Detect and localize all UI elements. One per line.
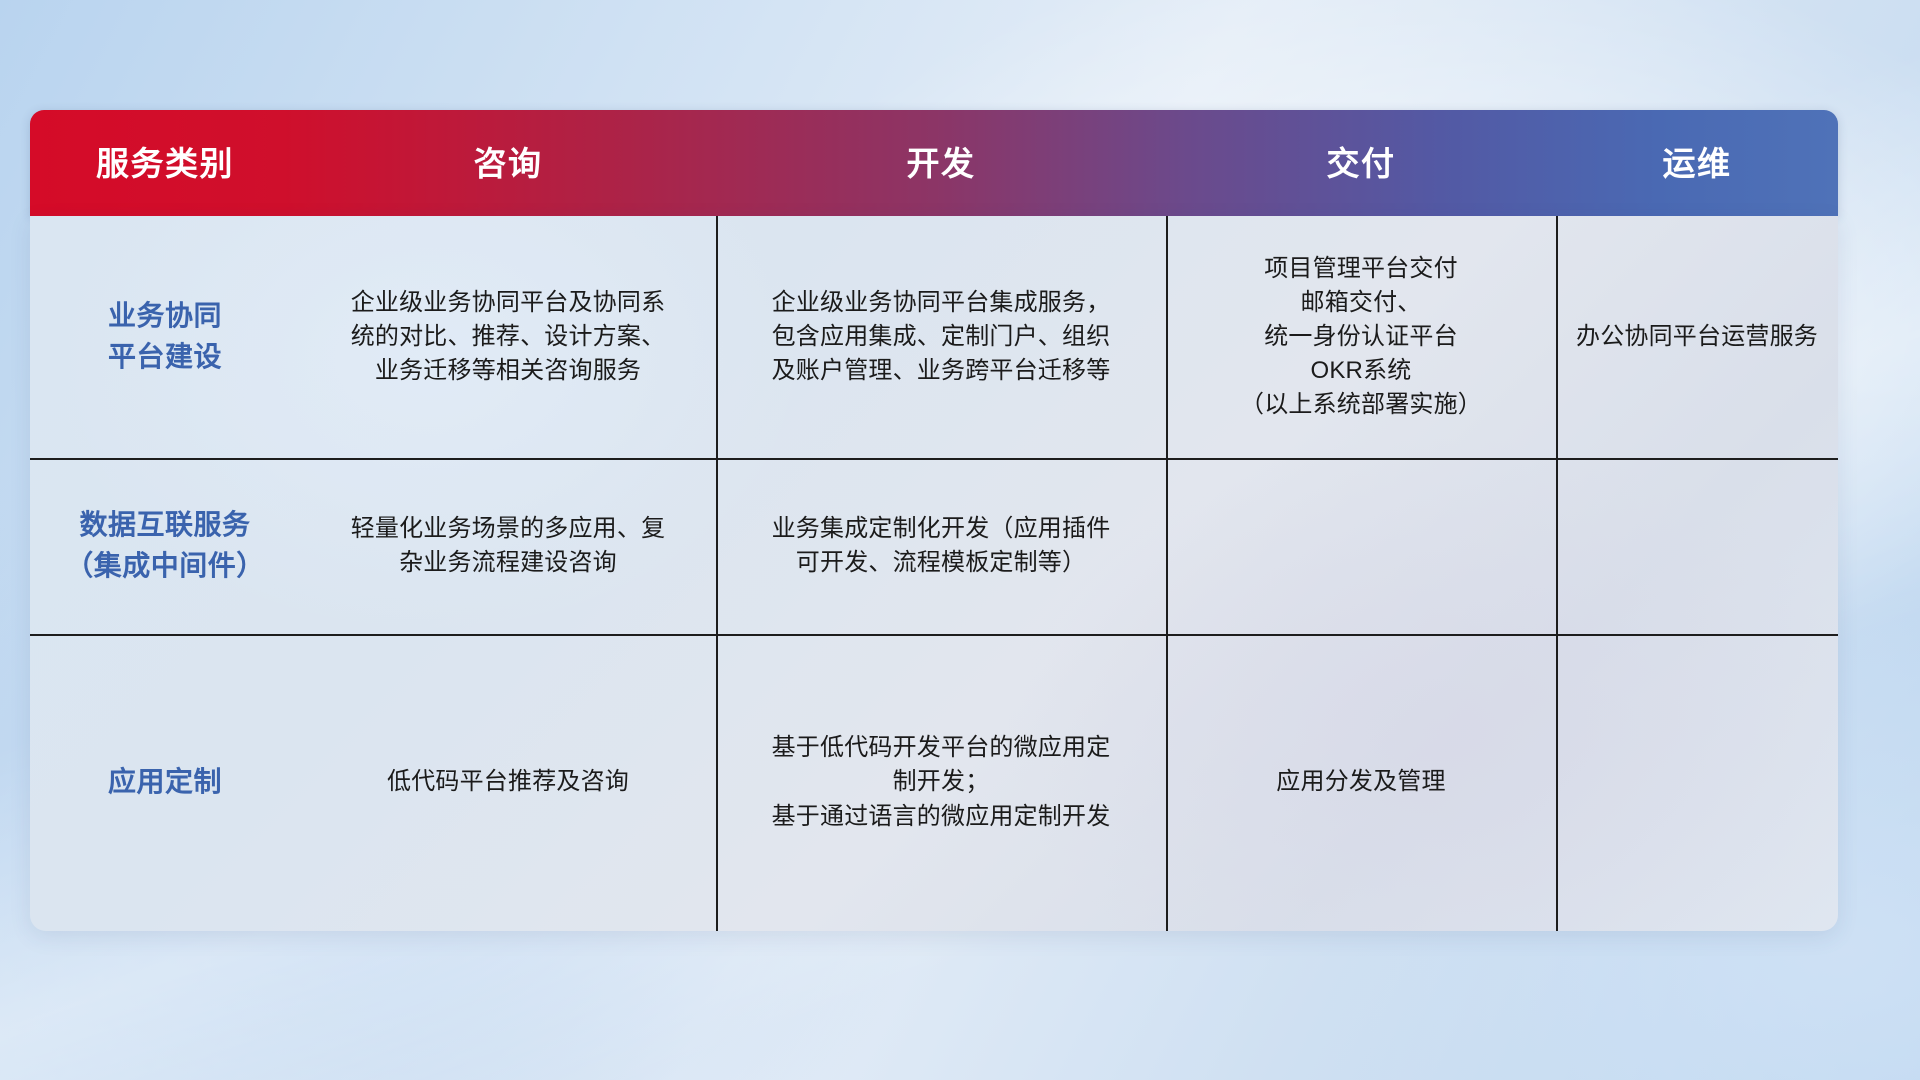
column-header-operations: 运维 <box>1556 110 1838 216</box>
cell-delivery: 项目管理平台交付邮箱交付、统一身份认证平台OKR系统（以上系统部署实施） <box>1166 216 1556 458</box>
row-category-label: 业务协同平台建设 <box>108 296 222 377</box>
cell-development: 基于低代码开发平台的微应用定制开发；基于通过语言的微应用定制开发 <box>716 634 1166 931</box>
column-header-label: 咨询 <box>474 147 543 180</box>
cell-text: 基于低代码开发平台的微应用定制开发；基于通过语言的微应用定制开发 <box>772 731 1111 833</box>
row-category-cell: 业务协同平台建设 <box>30 216 300 458</box>
column-header-label: 运维 <box>1663 147 1732 180</box>
cell-delivery <box>1166 458 1556 634</box>
cell-text: 低代码平台推荐及咨询 <box>387 765 629 799</box>
cell-operations: 办公协同平台运营服务 <box>1556 216 1838 458</box>
table-body: 业务协同平台建设 企业级业务协同平台及协同系统的对比、推荐、设计方案、业务迁移等… <box>30 216 1838 931</box>
column-header-label: 服务类别 <box>96 147 234 180</box>
cell-development: 企业级业务协同平台集成服务，包含应用集成、定制门户、组织及账户管理、业务跨平台迁… <box>716 216 1166 458</box>
cell-text: 应用分发及管理 <box>1276 765 1445 799</box>
cell-development: 业务集成定制化开发（应用插件可开发、流程模板定制等） <box>716 458 1166 634</box>
table-row: 数据互联服务（集成中间件） 轻量化业务场景的多应用、复杂业务流程建设咨询 业务集… <box>30 458 1838 634</box>
cell-consulting: 企业级业务协同平台及协同系统的对比、推荐、设计方案、业务迁移等相关咨询服务 <box>300 216 716 458</box>
cell-text: 办公协同平台运营服务 <box>1576 320 1818 354</box>
cell-consulting: 低代码平台推荐及咨询 <box>300 634 716 931</box>
cell-text: 企业级业务协同平台及协同系统的对比、推荐、设计方案、业务迁移等相关咨询服务 <box>351 286 666 388</box>
column-header-development: 开发 <box>716 110 1166 216</box>
row-category-cell: 数据互联服务（集成中间件） <box>30 458 300 634</box>
row-category-label: 应用定制 <box>108 762 222 803</box>
column-header-label: 交付 <box>1327 147 1396 180</box>
slide-canvas: 服务类别 咨询 开发 交付 运维 业务协同平台建设 企 <box>0 0 1920 1080</box>
cell-delivery: 应用分发及管理 <box>1166 634 1556 931</box>
column-header-label: 开发 <box>907 147 976 180</box>
service-matrix-table: 服务类别 咨询 开发 交付 运维 业务协同平台建设 企 <box>30 110 1838 931</box>
cell-text: 轻量化业务场景的多应用、复杂业务流程建设咨询 <box>351 512 666 580</box>
column-header-service-category: 服务类别 <box>30 110 300 216</box>
table-row: 业务协同平台建设 企业级业务协同平台及协同系统的对比、推荐、设计方案、业务迁移等… <box>30 216 1838 458</box>
cell-text: 项目管理平台交付邮箱交付、统一身份认证平台OKR系统（以上系统部署实施） <box>1240 252 1482 422</box>
cell-text: 企业级业务协同平台集成服务，包含应用集成、定制门户、组织及账户管理、业务跨平台迁… <box>772 286 1111 388</box>
cell-operations <box>1556 458 1838 634</box>
cell-consulting: 轻量化业务场景的多应用、复杂业务流程建设咨询 <box>300 458 716 634</box>
row-category-label: 数据互联服务（集成中间件） <box>65 505 265 586</box>
table-header-row: 服务类别 咨询 开发 交付 运维 <box>30 110 1838 216</box>
cell-operations <box>1556 634 1838 931</box>
column-header-consulting: 咨询 <box>300 110 716 216</box>
cell-text: 业务集成定制化开发（应用插件可开发、流程模板定制等） <box>772 512 1111 580</box>
column-header-delivery: 交付 <box>1166 110 1556 216</box>
table-row: 应用定制 低代码平台推荐及咨询 基于低代码开发平台的微应用定制开发；基于通过语言… <box>30 634 1838 931</box>
row-category-cell: 应用定制 <box>30 634 300 931</box>
